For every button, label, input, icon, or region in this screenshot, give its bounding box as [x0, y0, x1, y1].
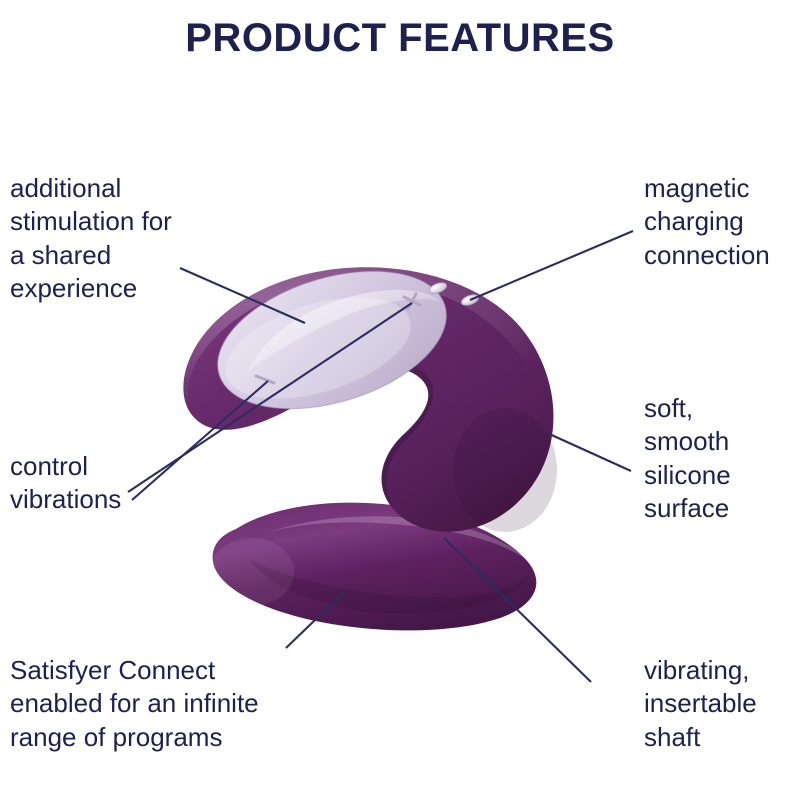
control-plus-icon [404, 294, 420, 309]
product-shaft [210, 503, 536, 631]
callout-label-satisfyer-connect: Satisfyer Connect enabled for an infinit… [10, 654, 340, 754]
leader-line-satisfyer [286, 592, 344, 648]
leader-line-magnetic [470, 231, 633, 300]
callout-label-additional-stimulation: additional stimulation for a shared expe… [10, 172, 250, 305]
leader-line-vibrating [444, 538, 591, 682]
leader-line-soft [545, 432, 631, 471]
callout-label-magnetic-charging: magnetic charging connection [644, 172, 800, 272]
product-head [181, 267, 557, 532]
callout-label-vibrating-shaft: vibrating, insertable shaft [644, 654, 800, 754]
page-title: PRODUCT FEATURES [0, 16, 800, 60]
product-features-infographic: PRODUCT FEATURES [0, 0, 800, 800]
callout-label-control-vibrations: control vibrations [10, 450, 220, 517]
control-minus-icon [256, 376, 274, 383]
callout-label-soft-silicone: soft, smooth silicone surface [644, 392, 800, 525]
magnetic-charging-contacts [428, 281, 480, 308]
